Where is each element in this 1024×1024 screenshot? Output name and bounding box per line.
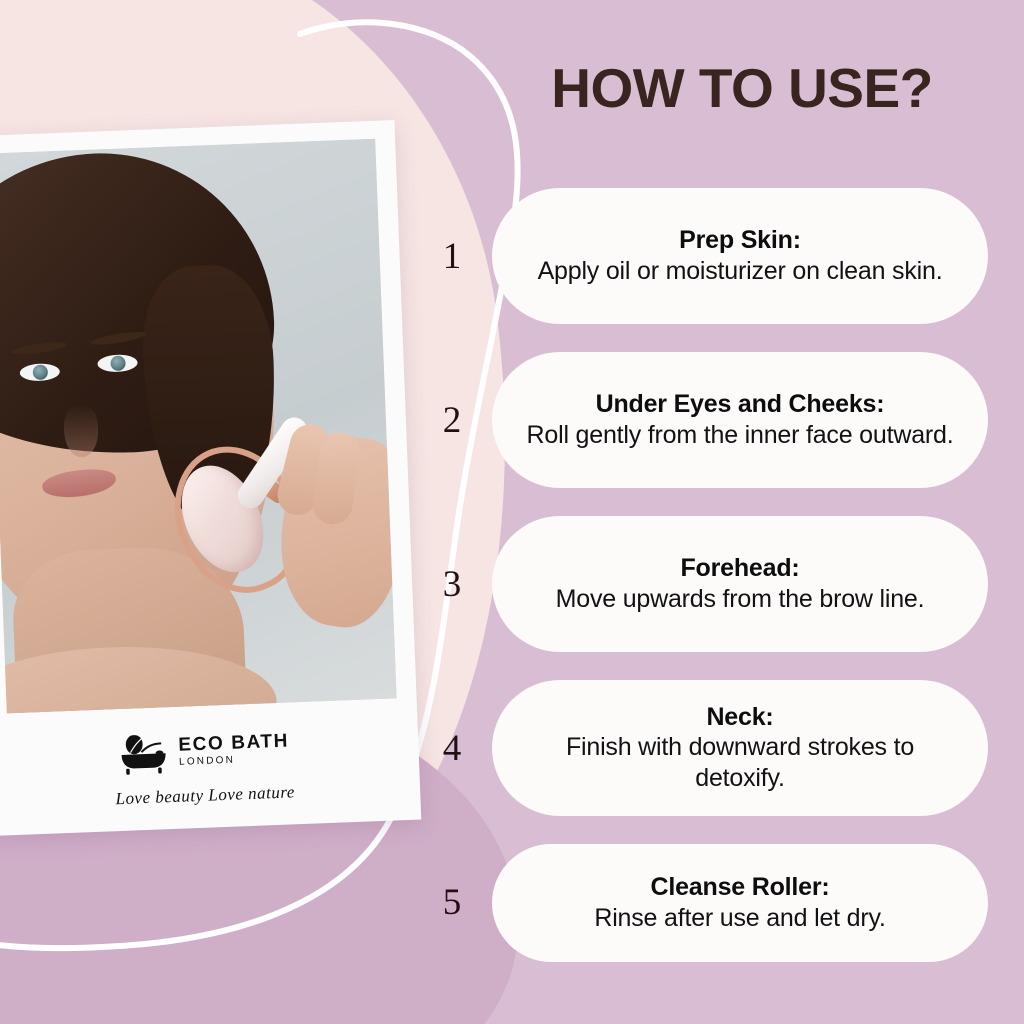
step-description: Finish with downward strokes to detoxify… — [518, 732, 962, 794]
step-item: 2 Under Eyes and Cheeks: Roll gently fro… — [418, 352, 998, 488]
step-card[interactable]: Cleanse Roller: Rinse after use and let … — [492, 844, 988, 962]
step-description: Rinse after use and let dry. — [594, 903, 885, 934]
step-title: Cleanse Roller: — [650, 872, 829, 903]
step-description: Move upwards from the brow line. — [556, 584, 925, 615]
brand-name: ECO BATH — [178, 732, 289, 755]
infographic-canvas: ECO BATH LONDON Love beauty Love nature … — [0, 0, 1024, 1024]
step-card[interactable]: Prep Skin: Apply oil or moisturizer on c… — [492, 188, 988, 324]
step-number: 5 — [432, 884, 472, 921]
step-number: 2 — [432, 402, 472, 439]
step-item: 1 Prep Skin: Apply oil or moisturizer on… — [418, 188, 998, 324]
step-item: 5 Cleanse Roller: Rinse after use and le… — [418, 844, 998, 962]
step-title: Neck: — [706, 702, 773, 733]
step-title: Under Eyes and Cheeks: — [596, 389, 885, 420]
step-number: 3 — [432, 566, 472, 603]
brand-logo-row: ECO BATH LONDON — [0, 720, 419, 782]
brand-logo-text: ECO BATH LONDON — [178, 732, 290, 768]
step-card[interactable]: Neck: Finish with downward strokes to de… — [492, 680, 988, 816]
brand-tagline: Love beauty Love nature — [0, 778, 420, 814]
step-number: 1 — [432, 238, 472, 275]
step-card[interactable]: Forehead: Move upwards from the brow lin… — [492, 516, 988, 652]
step-title: Forehead: — [680, 553, 799, 584]
step-card[interactable]: Under Eyes and Cheeks: Roll gently from … — [492, 352, 988, 488]
step-number: 4 — [432, 730, 472, 767]
polaroid-photo-frame: ECO BATH LONDON Love beauty Love nature — [0, 120, 421, 836]
step-title: Prep Skin: — [679, 225, 801, 256]
step-item: 3 Forehead: Move upwards from the brow l… — [418, 516, 998, 652]
steps-list: 1 Prep Skin: Apply oil or moisturizer on… — [418, 188, 998, 990]
brand-logo: ECO BATH LONDON Love beauty Love nature — [0, 720, 420, 814]
step-description: Roll gently from the inner face outward. — [527, 420, 954, 451]
step-item: 4 Neck: Finish with downward strokes to … — [418, 680, 998, 816]
portrait-photo — [0, 139, 397, 714]
page-title: HOW TO USE? — [492, 56, 992, 120]
bathtub-leaf-icon — [117, 729, 171, 777]
step-description: Apply oil or moisturizer on clean skin. — [538, 256, 943, 287]
brand-location: LONDON — [179, 754, 290, 768]
